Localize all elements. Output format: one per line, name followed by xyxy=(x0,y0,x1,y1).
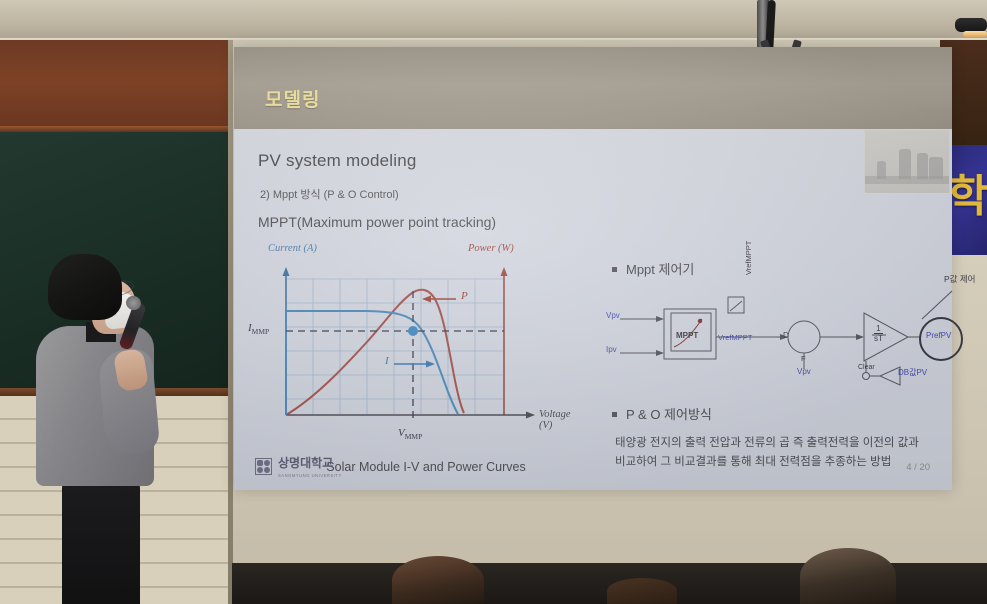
current-curve xyxy=(286,311,458,414)
audience-head xyxy=(392,556,484,604)
label-dbpv: DB값PV xyxy=(898,367,927,378)
bullet-square-icon xyxy=(612,267,617,272)
webcam-overlay-thumbnail xyxy=(864,130,950,194)
chart-vmmp-label: VMMP xyxy=(398,427,422,441)
university-logo-mark-icon xyxy=(255,458,272,475)
chart-grid xyxy=(286,279,504,415)
chart-immp-label: IMMP xyxy=(248,322,269,336)
label-integrator: 1sT xyxy=(874,325,883,343)
max-power-point-marker xyxy=(408,326,418,336)
label-f-signal: F xyxy=(801,354,806,363)
bullet-mppt-controller: Mppt 제어기 xyxy=(612,259,694,278)
university-name-en: SANGMYUNG UNIVERSITY xyxy=(278,474,342,478)
iv-power-chart: Current (A) Power (W) Voltage (V) IMMP V… xyxy=(246,247,576,467)
label-p-control-annotation: P값 제어 xyxy=(944,273,976,285)
lecture-hall-scene: 학 모델링 PV system modeling 2) Mppt 방식 (P &… xyxy=(0,0,987,604)
label-clear: Clear xyxy=(858,364,875,371)
slide-section-title: MPPT(Maximum power point tracking) xyxy=(258,214,496,230)
chart-left-axis-label: Current (A) xyxy=(268,243,317,254)
audience-head xyxy=(607,578,677,604)
ceiling-speaker xyxy=(955,18,987,32)
webcam-overlay-caption-strip xyxy=(865,176,949,184)
wood-wall-panel xyxy=(0,40,232,130)
banner-text: 학 xyxy=(948,175,987,219)
university-logo: 상명대학교 SANGMYUNG UNIVERSITY xyxy=(255,454,342,478)
chart-x-axis xyxy=(286,412,535,419)
label-vrefmppt-vertical: VrefMPPT xyxy=(744,241,753,275)
mppt-block-diagram: Vpv Ipv MPPT VrefMPPT VrefMPPT D F Vpv 1… xyxy=(608,281,928,393)
po-description-paragraph: 태양광 전지의 출력 전압과 전류의 곱 즉 출력전력을 이전의 값과 비교하여… xyxy=(615,434,920,472)
university-logo-text: 상명대학교 SANGMYUNG UNIVERSITY xyxy=(278,454,342,478)
label-vrefmppt-out: VrefMPPT xyxy=(718,333,752,342)
label-ipv-input: Ipv xyxy=(606,345,617,354)
slide-heading: PV system modeling xyxy=(258,151,417,171)
slide-header-title: 모델링 xyxy=(265,85,320,112)
chart-right-axis xyxy=(501,267,508,415)
audience-head xyxy=(800,548,896,604)
power-label-arrow xyxy=(422,296,456,303)
label-prefpv: PrefPV xyxy=(926,331,951,340)
bullet-label: Mppt 제어기 xyxy=(626,262,694,277)
presenter-trousers xyxy=(62,476,140,604)
label-vpv-feedback: Vpv xyxy=(797,367,811,376)
label-vpv-input: Vpv xyxy=(606,311,620,320)
slide-body: PV system modeling 2) Mppt 방식 (P & O Con… xyxy=(234,129,952,490)
chart-i-label: I xyxy=(385,355,389,367)
slide-header-band: 모델링 xyxy=(234,47,952,129)
current-label-arrow xyxy=(394,361,435,368)
presenter-hair xyxy=(48,254,122,320)
label-d-signal: D xyxy=(783,331,789,340)
presenter xyxy=(30,254,172,604)
ceiling-lamp xyxy=(963,31,987,37)
projection-screen: 모델링 PV system modeling 2) Mppt 방식 (P & O… xyxy=(234,47,952,490)
slide-page-number: 4 / 20 xyxy=(906,462,930,473)
bullet-square-icon xyxy=(612,412,617,417)
chart-p-label: P xyxy=(461,290,468,302)
chart-x-axis-label: Voltage (V) xyxy=(539,409,576,431)
university-name-kr: 상명대학교 xyxy=(278,456,333,470)
bullet-label: P & O 제어방식 xyxy=(626,407,712,422)
slide-subheading: 2) Mppt 방식 (P & O Control) xyxy=(260,186,399,202)
bullet-po-method: P & O 제어방식 xyxy=(612,404,712,423)
chart-right-axis-label: Power (W) xyxy=(468,243,514,254)
wall-corner-edge xyxy=(228,40,233,604)
label-mppt-block: MPPT xyxy=(676,331,698,340)
annotation-leader-line xyxy=(918,279,987,323)
